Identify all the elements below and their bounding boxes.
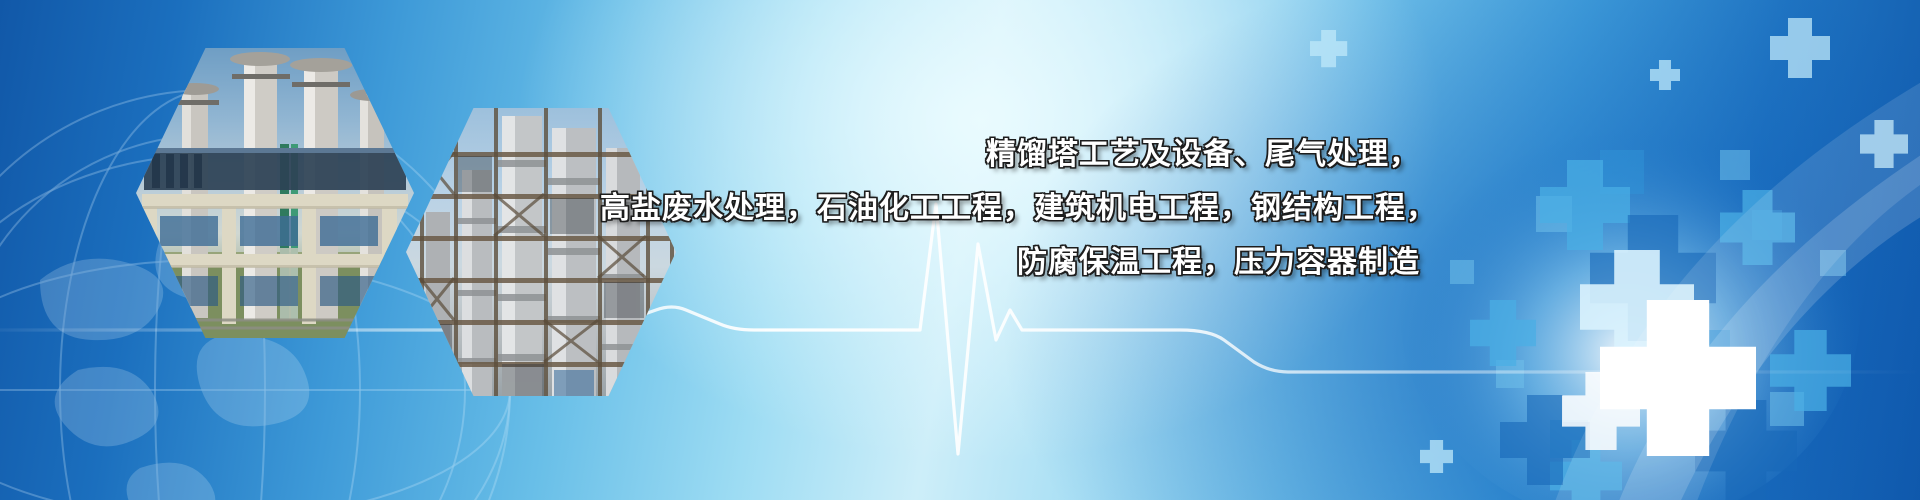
headline-line-1: 精馏塔工艺及设备、尾气处理，	[600, 128, 1420, 182]
headline-line-3: 防腐保温工程，压力容器制造	[600, 236, 1420, 290]
headline-line-2: 高盐废水处理，石油化工工程，建筑机电工程，钢结构工程，	[600, 182, 1420, 236]
hex-photo-distillation-plant	[136, 48, 414, 338]
hero-banner: 精馏塔工艺及设备、尾气处理， 高盐废水处理，石油化工工程，建筑机电工程，钢结构工…	[0, 0, 1920, 500]
headline-block: 精馏塔工艺及设备、尾气处理， 高盐废水处理，石油化工工程，建筑机电工程，钢结构工…	[600, 128, 1420, 290]
